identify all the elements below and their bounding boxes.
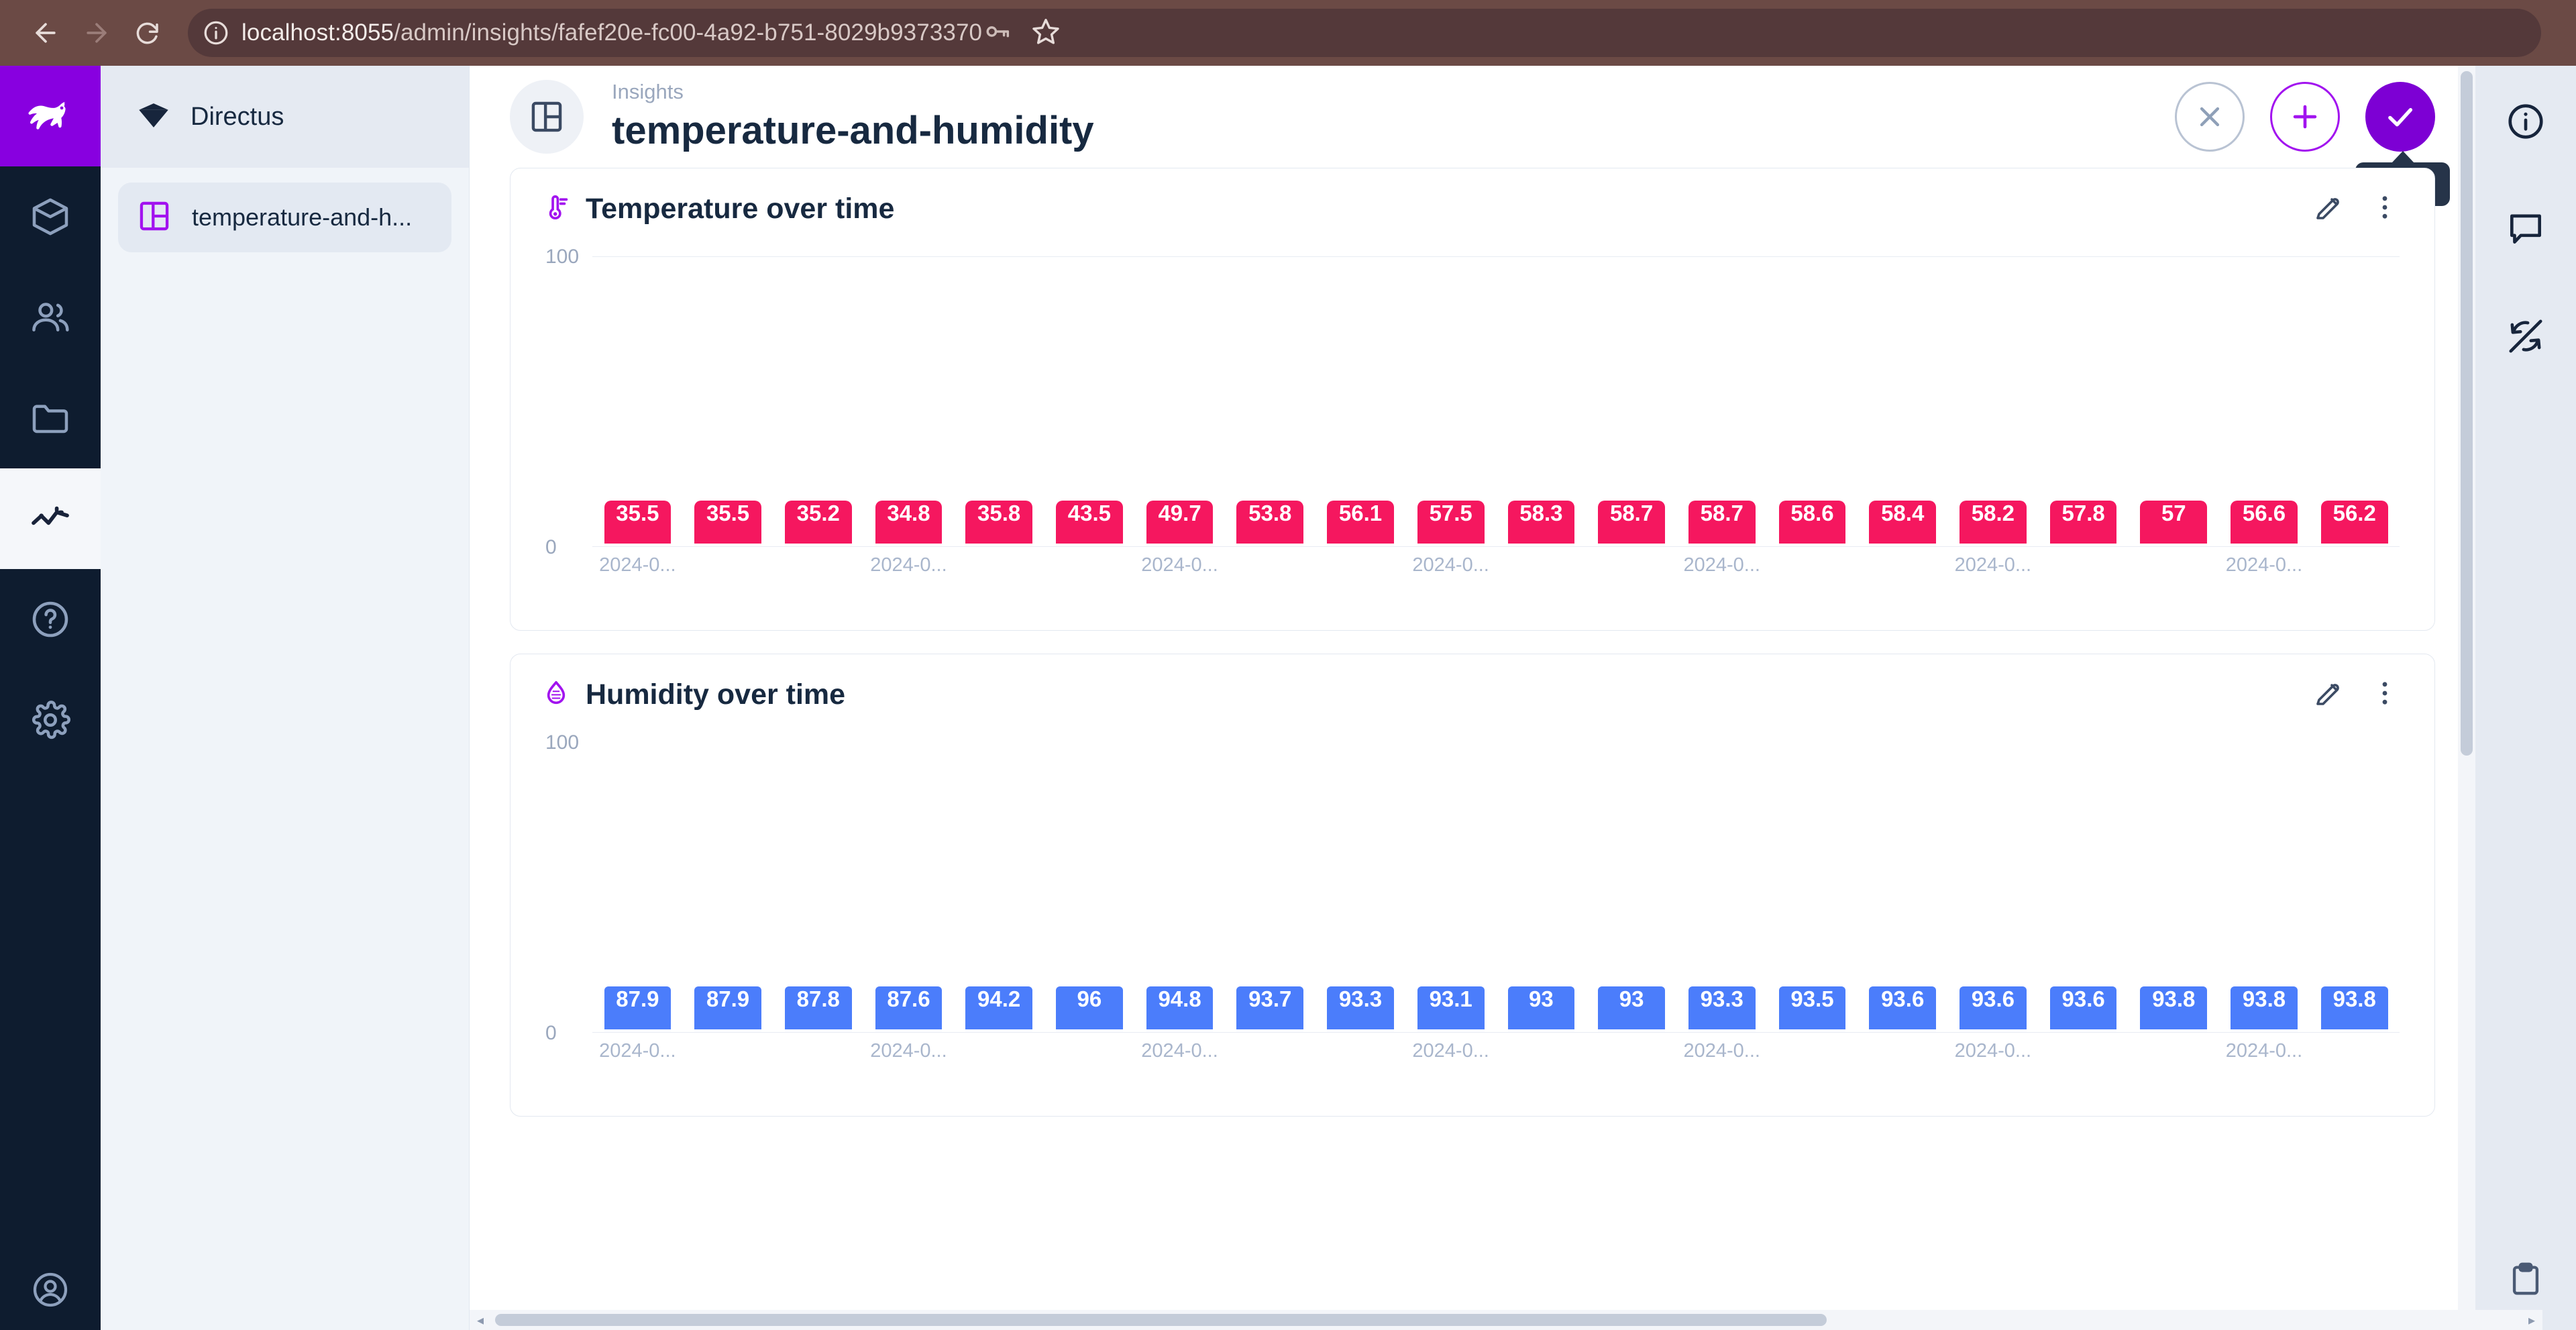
bars-temperature: 35.535.535.234.835.843.549.753.856.157.5… bbox=[592, 248, 2400, 544]
bar-value-label: 57.8 bbox=[2061, 501, 2104, 526]
bar: 93.1 bbox=[1417, 986, 1485, 1029]
bar: 94.2 bbox=[965, 986, 1032, 1029]
bar-group: 58.4 bbox=[1858, 501, 1948, 544]
sidebar-item-help[interactable] bbox=[0, 569, 101, 670]
url-host: localhost:8055 bbox=[241, 19, 394, 46]
sidebar-item-temperature-and-humidity[interactable]: temperature-and-h... bbox=[118, 183, 451, 252]
bar-group: 93.1 bbox=[1405, 986, 1496, 1029]
bar: 57 bbox=[2140, 501, 2207, 544]
bar-group: 93.6 bbox=[2038, 986, 2129, 1029]
bar: 35.5 bbox=[604, 501, 672, 544]
dashboard-list: temperature-and-h... bbox=[101, 168, 469, 252]
create-panel-button[interactable] bbox=[2270, 82, 2340, 152]
bar-value-label: 58.3 bbox=[1519, 501, 1562, 526]
scroll-right-arrow[interactable]: ▸ bbox=[2521, 1312, 2542, 1329]
bar: 57.8 bbox=[2050, 501, 2117, 544]
bar-value-label: 93.8 bbox=[2152, 986, 2195, 1012]
bar: 35.8 bbox=[965, 501, 1032, 544]
bar-value-label: 58.2 bbox=[1972, 501, 2015, 526]
info-circle-icon[interactable] bbox=[2475, 101, 2576, 142]
bar-group: 93 bbox=[1587, 986, 1677, 1029]
bar-value-label: 87.9 bbox=[706, 986, 749, 1012]
main-content: Insights temperature-and-humidity Save bbox=[470, 66, 2475, 1330]
x-axis-tick-label: 2024-0... bbox=[1684, 1040, 1760, 1062]
bar-value-label: 93.8 bbox=[2243, 986, 2286, 1012]
bar-group: 87.8 bbox=[773, 986, 863, 1029]
password-key-icon[interactable] bbox=[982, 16, 1013, 50]
x-axis-tick-label: 2024-0... bbox=[870, 1040, 947, 1062]
bar: 34.8 bbox=[875, 501, 943, 544]
bar: 93.7 bbox=[1236, 986, 1303, 1029]
account-circle-icon[interactable] bbox=[0, 1249, 101, 1330]
bar: 93.6 bbox=[1869, 986, 1936, 1029]
chart-humidity: 100 0 87.987.987.887.694.29694.893.793.3… bbox=[511, 717, 2434, 1106]
navigation-sidebar: Directus temperature-and-h... bbox=[101, 66, 470, 1330]
bar: 35.5 bbox=[694, 501, 761, 544]
bar-value-label: 93.8 bbox=[2333, 986, 2376, 1012]
bar-value-label: 93.6 bbox=[2061, 986, 2104, 1012]
bar-group: 35.2 bbox=[773, 501, 863, 544]
bar-value-label: 35.5 bbox=[616, 501, 659, 526]
project-name: Directus bbox=[191, 103, 284, 132]
bar-value-label: 35.5 bbox=[706, 501, 749, 526]
bookmark-star-icon[interactable] bbox=[1030, 16, 1061, 50]
y-axis-min-label: 0 bbox=[545, 1022, 557, 1045]
bar-group: 57.8 bbox=[2038, 501, 2129, 544]
address-bar[interactable]: localhost:8055/admin/insights/fafef20e-f… bbox=[188, 9, 2541, 57]
more-vertical-icon[interactable] bbox=[2369, 191, 2401, 227]
pencil-edit-icon[interactable] bbox=[2312, 677, 2345, 713]
bar-value-label: 43.5 bbox=[1068, 501, 1111, 526]
sidebar-item-insights[interactable] bbox=[0, 468, 101, 569]
vertical-scrollbar-thumb[interactable] bbox=[2461, 71, 2473, 756]
sidebar-item-label: temperature-and-h... bbox=[192, 203, 412, 232]
bar-value-label: 56.6 bbox=[2243, 501, 2286, 526]
thermometer-icon bbox=[541, 193, 571, 225]
x-axis-tick-label: 2024-0... bbox=[870, 554, 947, 576]
bar: 56.6 bbox=[2231, 501, 2298, 544]
page-title: temperature-and-humidity bbox=[612, 107, 1094, 155]
panel-title: Temperature over time bbox=[586, 193, 894, 225]
bar-group: 94.8 bbox=[1134, 986, 1225, 1029]
panel-temperature-over-time[interactable]: Temperature over time 100 0 bbox=[510, 168, 2435, 631]
x-axis-humidity: 2024-0...2024-0...2024-0...2024-0...2024… bbox=[592, 1040, 2400, 1075]
bar: 58.6 bbox=[1779, 501, 1846, 544]
bar-value-label: 87.8 bbox=[797, 986, 840, 1012]
bar-group: 57.5 bbox=[1405, 501, 1496, 544]
reload-icon[interactable] bbox=[122, 7, 173, 58]
url-text: localhost:8055/admin/insights/fafef20e-f… bbox=[241, 19, 982, 46]
bar: 58.4 bbox=[1869, 501, 1936, 544]
bar-group: 58.2 bbox=[1948, 501, 2039, 544]
bar-group: 35.5 bbox=[683, 501, 773, 544]
horizontal-scrollbar[interactable]: ◂ ▸ bbox=[470, 1310, 2542, 1330]
x-axis-tick-label: 2024-0... bbox=[1141, 1040, 1218, 1062]
bar-value-label: 34.8 bbox=[887, 501, 930, 526]
horizontal-scrollbar-track[interactable] bbox=[491, 1310, 2521, 1330]
bar: 93.6 bbox=[2050, 986, 2117, 1029]
bar-value-label: 56.2 bbox=[2333, 501, 2376, 526]
bar-value-label: 58.7 bbox=[1610, 501, 1653, 526]
bar-value-label: 93 bbox=[1529, 986, 1554, 1012]
bar-value-label: 87.9 bbox=[616, 986, 659, 1012]
bar: 93 bbox=[1598, 986, 1665, 1029]
bar-value-label: 94.2 bbox=[977, 986, 1020, 1012]
bar-value-label: 96 bbox=[1077, 986, 1102, 1012]
right-sidebar bbox=[2475, 66, 2576, 1330]
bar-group: 93.3 bbox=[1316, 986, 1406, 1029]
bar-value-label: 35.8 bbox=[977, 501, 1020, 526]
horizontal-scrollbar-thumb[interactable] bbox=[495, 1314, 1827, 1326]
bar-group: 93.3 bbox=[1676, 986, 1767, 1029]
scroll-left-arrow[interactable]: ◂ bbox=[470, 1312, 491, 1329]
bar-group: 56.1 bbox=[1316, 501, 1406, 544]
directus-rabbit-logo[interactable] bbox=[0, 66, 101, 166]
dashboard-panel-icon bbox=[137, 199, 172, 237]
bar-group: 87.6 bbox=[863, 986, 954, 1029]
bar-value-label: 94.8 bbox=[1158, 986, 1201, 1012]
bar-group: 58.7 bbox=[1587, 501, 1677, 544]
bar-group: 87.9 bbox=[592, 986, 683, 1029]
bar: 93.8 bbox=[2140, 986, 2207, 1029]
bar-value-label: 93.7 bbox=[1248, 986, 1291, 1012]
bar: 58.2 bbox=[1960, 501, 2027, 544]
bar-value-label: 93 bbox=[1619, 986, 1644, 1012]
panel-title: Humidity over time bbox=[586, 678, 845, 711]
bar: 58.7 bbox=[1598, 501, 1665, 544]
bar-group: 96 bbox=[1044, 986, 1135, 1029]
bar-group: 43.5 bbox=[1044, 501, 1135, 544]
bar: 93.5 bbox=[1779, 986, 1846, 1029]
bar: 53.8 bbox=[1236, 501, 1303, 544]
bar-group: 58.7 bbox=[1676, 501, 1767, 544]
bar-value-label: 57.5 bbox=[1430, 501, 1472, 526]
bar-group: 93.7 bbox=[1225, 986, 1316, 1029]
bar-value-label: 93.5 bbox=[1790, 986, 1833, 1012]
bar: 49.7 bbox=[1146, 501, 1214, 544]
bar-group: 93.5 bbox=[1767, 986, 1858, 1029]
bar-value-label: 93.3 bbox=[1701, 986, 1743, 1012]
sync-off-icon[interactable] bbox=[2475, 315, 2576, 357]
bar: 87.9 bbox=[604, 986, 672, 1029]
bar-value-label: 87.6 bbox=[887, 986, 930, 1012]
x-axis-tick-label: 2024-0... bbox=[1412, 554, 1489, 576]
bar: 57.5 bbox=[1417, 501, 1485, 544]
bar-group: 56.2 bbox=[2309, 501, 2400, 544]
bar-group: 93.6 bbox=[1858, 986, 1948, 1029]
bar-value-label: 93.6 bbox=[1972, 986, 2015, 1012]
bar: 35.2 bbox=[785, 501, 852, 544]
x-axis-temperature: 2024-0...2024-0...2024-0...2024-0...2024… bbox=[592, 554, 2400, 589]
bar: 94.8 bbox=[1146, 986, 1214, 1029]
url-path: /admin/insights/fafef20e-fc00-4a92-b751-… bbox=[394, 19, 982, 46]
sidebar-item-settings[interactable] bbox=[0, 670, 101, 770]
x-axis-tick-label: 2024-0... bbox=[599, 554, 676, 576]
bar-group: 93.6 bbox=[1948, 986, 2039, 1029]
dashboard-canvas: Temperature over time 100 0 bbox=[470, 168, 2475, 1330]
bar-value-label: 58.7 bbox=[1701, 501, 1743, 526]
panel-humidity-over-time[interactable]: Humidity over time 100 0 87.987.987.8 bbox=[510, 654, 2435, 1117]
bar: 87.8 bbox=[785, 986, 852, 1029]
bar-group: 87.9 bbox=[683, 986, 773, 1029]
bar: 93.6 bbox=[1960, 986, 2027, 1029]
pencil-edit-icon[interactable] bbox=[2312, 191, 2345, 227]
bar-value-label: 56.1 bbox=[1339, 501, 1382, 526]
bar-group: 93.8 bbox=[2129, 986, 2219, 1029]
bar-value-label: 93.3 bbox=[1339, 986, 1382, 1012]
chart-temperature: 100 0 35.535.535.234.835.843.549.753.856… bbox=[511, 231, 2434, 620]
bar-group: 93.8 bbox=[2309, 986, 2400, 1029]
x-axis-tick-label: 2024-0... bbox=[599, 1040, 676, 1062]
bar: 87.6 bbox=[875, 986, 943, 1029]
sidebar-item-content[interactable] bbox=[0, 166, 101, 267]
sidebar-item-files[interactable] bbox=[0, 368, 101, 468]
bar-group: 58.3 bbox=[1496, 501, 1587, 544]
x-axis-tick-label: 2024-0... bbox=[2226, 1040, 2302, 1062]
bar: 93.3 bbox=[1327, 986, 1394, 1029]
x-axis-tick-label: 2024-0... bbox=[1141, 554, 1218, 576]
x-axis-tick-label: 2024-0... bbox=[2226, 554, 2302, 576]
back-arrow-icon[interactable] bbox=[20, 7, 71, 58]
bar-group: 35.5 bbox=[592, 501, 683, 544]
save-button[interactable] bbox=[2365, 82, 2435, 152]
dashboard-panel-icon[interactable] bbox=[510, 80, 584, 154]
bar-value-label: 58.6 bbox=[1790, 501, 1833, 526]
y-axis-max-label: 100 bbox=[545, 246, 579, 268]
bar: 93.8 bbox=[2321, 986, 2388, 1029]
bar: 58.3 bbox=[1508, 501, 1575, 544]
bar-value-label: 57 bbox=[2161, 501, 2186, 526]
forward-arrow-icon bbox=[71, 7, 122, 58]
x-axis-tick-label: 2024-0... bbox=[1412, 1040, 1489, 1062]
page-header: Insights temperature-and-humidity Save bbox=[470, 66, 2475, 168]
y-axis-max-label: 100 bbox=[545, 731, 579, 754]
bar-group: 57 bbox=[2129, 501, 2219, 544]
cancel-button[interactable] bbox=[2175, 82, 2245, 152]
bar: 96 bbox=[1056, 986, 1123, 1029]
directus-app: Directus temperature-and-h... Insights t… bbox=[0, 66, 2576, 1330]
x-axis-tick-label: 2024-0... bbox=[1955, 1040, 2031, 1062]
browser-toolbar: localhost:8055/admin/insights/fafef20e-f… bbox=[0, 0, 2576, 66]
bar-group: 94.2 bbox=[954, 986, 1044, 1029]
bar-group: 53.8 bbox=[1225, 501, 1316, 544]
project-header[interactable]: Directus bbox=[101, 66, 469, 168]
bar-value-label: 53.8 bbox=[1248, 501, 1291, 526]
gridline-baseline bbox=[592, 546, 2400, 547]
module-bar bbox=[0, 66, 101, 1330]
humidity-drop-icon bbox=[541, 678, 571, 711]
bar: 56.2 bbox=[2321, 501, 2388, 544]
gridline-baseline bbox=[592, 1032, 2400, 1033]
directus-diamond-icon bbox=[134, 96, 173, 138]
bar: 93 bbox=[1508, 986, 1575, 1029]
bar-group: 93 bbox=[1496, 986, 1587, 1029]
site-info-icon[interactable] bbox=[199, 15, 233, 50]
y-axis-min-label: 0 bbox=[545, 536, 557, 559]
sidebar-item-users[interactable] bbox=[0, 267, 101, 368]
bars-humidity: 87.987.987.887.694.29694.893.793.393.193… bbox=[592, 734, 2400, 1029]
comment-icon[interactable] bbox=[2475, 208, 2576, 250]
x-axis-tick-label: 2024-0... bbox=[1955, 554, 2031, 576]
bar-group: 93.8 bbox=[2219, 986, 2310, 1029]
header-actions: Save bbox=[2175, 82, 2435, 152]
bar: 43.5 bbox=[1056, 501, 1123, 544]
bar-value-label: 58.4 bbox=[1881, 501, 1924, 526]
bar: 93.3 bbox=[1688, 986, 1756, 1029]
bar-value-label: 49.7 bbox=[1158, 501, 1201, 526]
x-axis-tick-label: 2024-0... bbox=[1684, 554, 1760, 576]
bar-group: 49.7 bbox=[1134, 501, 1225, 544]
bar-group: 35.8 bbox=[954, 501, 1044, 544]
bar-value-label: 93.1 bbox=[1430, 986, 1472, 1012]
bar: 87.9 bbox=[694, 986, 761, 1029]
more-vertical-icon[interactable] bbox=[2369, 677, 2401, 713]
bar: 58.7 bbox=[1688, 501, 1756, 544]
bar-value-label: 35.2 bbox=[797, 501, 840, 526]
bar: 93.8 bbox=[2231, 986, 2298, 1029]
bar-group: 58.6 bbox=[1767, 501, 1858, 544]
vertical-scrollbar[interactable] bbox=[2458, 66, 2475, 1330]
bar: 56.1 bbox=[1327, 501, 1394, 544]
breadcrumb[interactable]: Insights bbox=[612, 79, 1094, 105]
bar-group: 34.8 bbox=[863, 501, 954, 544]
bar-value-label: 93.6 bbox=[1881, 986, 1924, 1012]
bar-group: 56.6 bbox=[2219, 501, 2310, 544]
